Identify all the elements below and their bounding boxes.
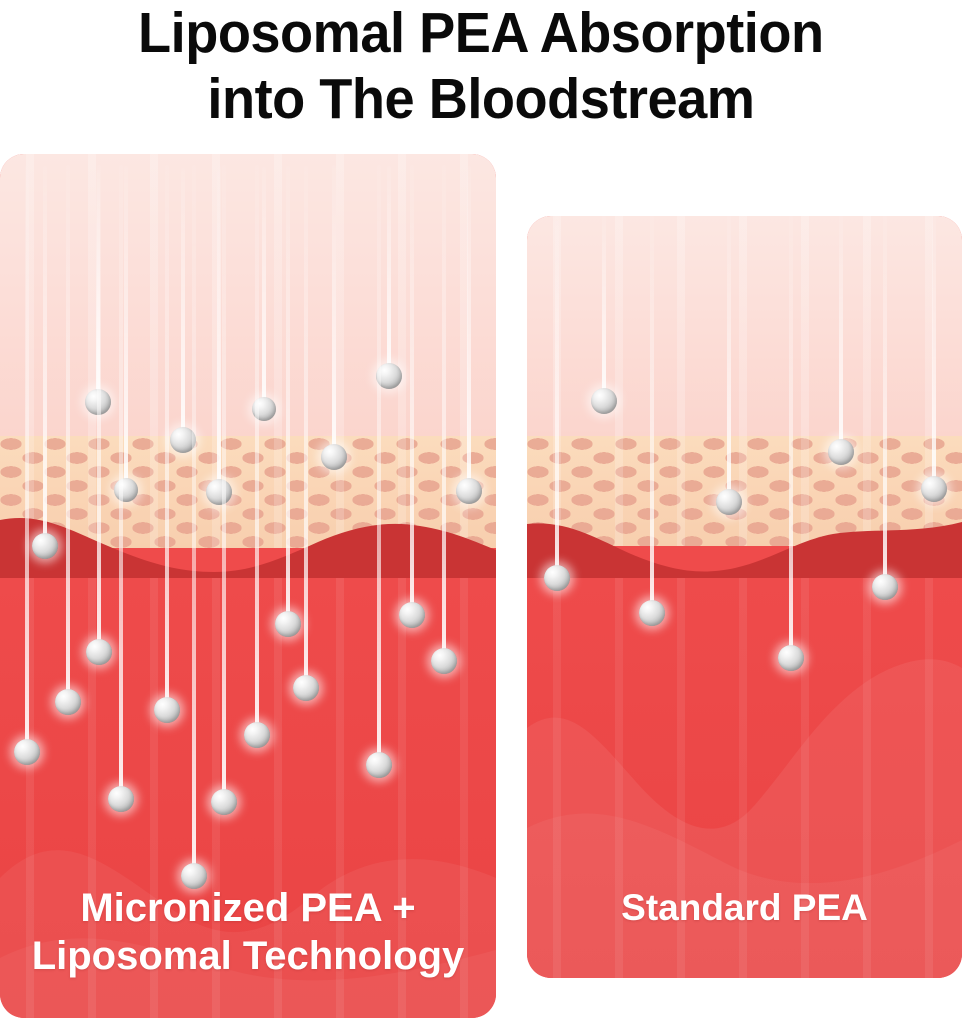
- panel-left-caption-line-2: Liposomal Technology: [0, 932, 496, 980]
- panel-left-caption: Micronized PEA + Liposomal Technology: [0, 884, 496, 980]
- layer-epidermis-left: [0, 154, 496, 436]
- title-line-2: into The Bloodstream: [207, 68, 754, 130]
- panel-micronized-liposomal[interactable]: Micronized PEA + Liposomal Technology: [0, 154, 496, 1018]
- panel-left-caption-line-1: Micronized PEA +: [0, 884, 496, 932]
- page-title: Liposomal PEA Absorption into The Bloods…: [0, 0, 962, 148]
- title-line-1: Liposomal PEA Absorption: [138, 2, 824, 64]
- epidermis-streaks-left: [0, 154, 496, 436]
- layer-epidermis-right: [527, 216, 962, 436]
- epidermis-streaks-right: [527, 216, 962, 436]
- panel-right-caption: Standard PEA: [527, 884, 962, 932]
- panel-standard-pea[interactable]: Standard PEA: [527, 216, 962, 978]
